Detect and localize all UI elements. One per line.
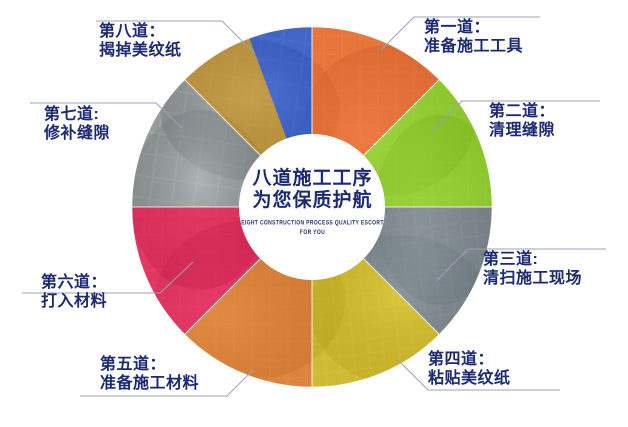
center-title-line-1: 八道施工工序 — [235, 168, 390, 190]
center-title-line-2: 为您保质护航 — [235, 190, 390, 212]
step-6-number: 第六道： — [41, 273, 107, 292]
step-label-3[interactable]: 第三道: 清扫施工现场 — [483, 250, 582, 288]
step-1-number: 第一道： — [424, 18, 523, 37]
step-2-name: 清理缝隙 — [489, 121, 555, 140]
step-5-number: 第五道： — [100, 355, 199, 374]
step-5-name: 准备施工材料 — [100, 374, 199, 393]
step-label-2[interactable]: 第二道： 清理缝隙 — [489, 102, 555, 140]
step-6-name: 打入材料 — [41, 292, 107, 311]
center-subtitle-english: EIGHT CONSTRUCTION PROCESS QUALITY ESCOR… — [235, 219, 390, 238]
step-3-name: 清扫施工现场 — [483, 269, 582, 288]
center-text-block: 八道施工工序 为您保质护航 EIGHT CONSTRUCTION PROCESS… — [235, 168, 390, 233]
step-label-5[interactable]: 第五道： 准备施工材料 — [100, 355, 199, 393]
step-4-name: 粘贴美纹纸 — [428, 369, 511, 388]
step-3-number: 第三道: — [483, 250, 582, 269]
step-1-name: 准备施工工具 — [424, 37, 523, 56]
process-wheel-infographic: 第八道： 揭掉美纹纸 第七道: 修补缝隙 第六道： 打入材料 第五道： 准备施工… — [0, 0, 628, 427]
step-2-number: 第二道： — [489, 102, 555, 121]
step-8-name: 揭掉美纹纸 — [99, 41, 182, 60]
step-label-1[interactable]: 第一道： 准备施工工具 — [424, 18, 523, 56]
step-7-name: 修补缝隙 — [44, 124, 110, 143]
step-4-number: 第四道： — [428, 350, 511, 369]
step-7-number: 第七道: — [44, 105, 110, 124]
step-label-8[interactable]: 第八道： 揭掉美纹纸 — [99, 22, 182, 60]
step-8-number: 第八道： — [99, 22, 182, 41]
step-label-4[interactable]: 第四道： 粘贴美纹纸 — [428, 350, 511, 388]
step-label-6[interactable]: 第六道： 打入材料 — [41, 273, 107, 311]
step-label-7[interactable]: 第七道: 修补缝隙 — [44, 105, 110, 143]
